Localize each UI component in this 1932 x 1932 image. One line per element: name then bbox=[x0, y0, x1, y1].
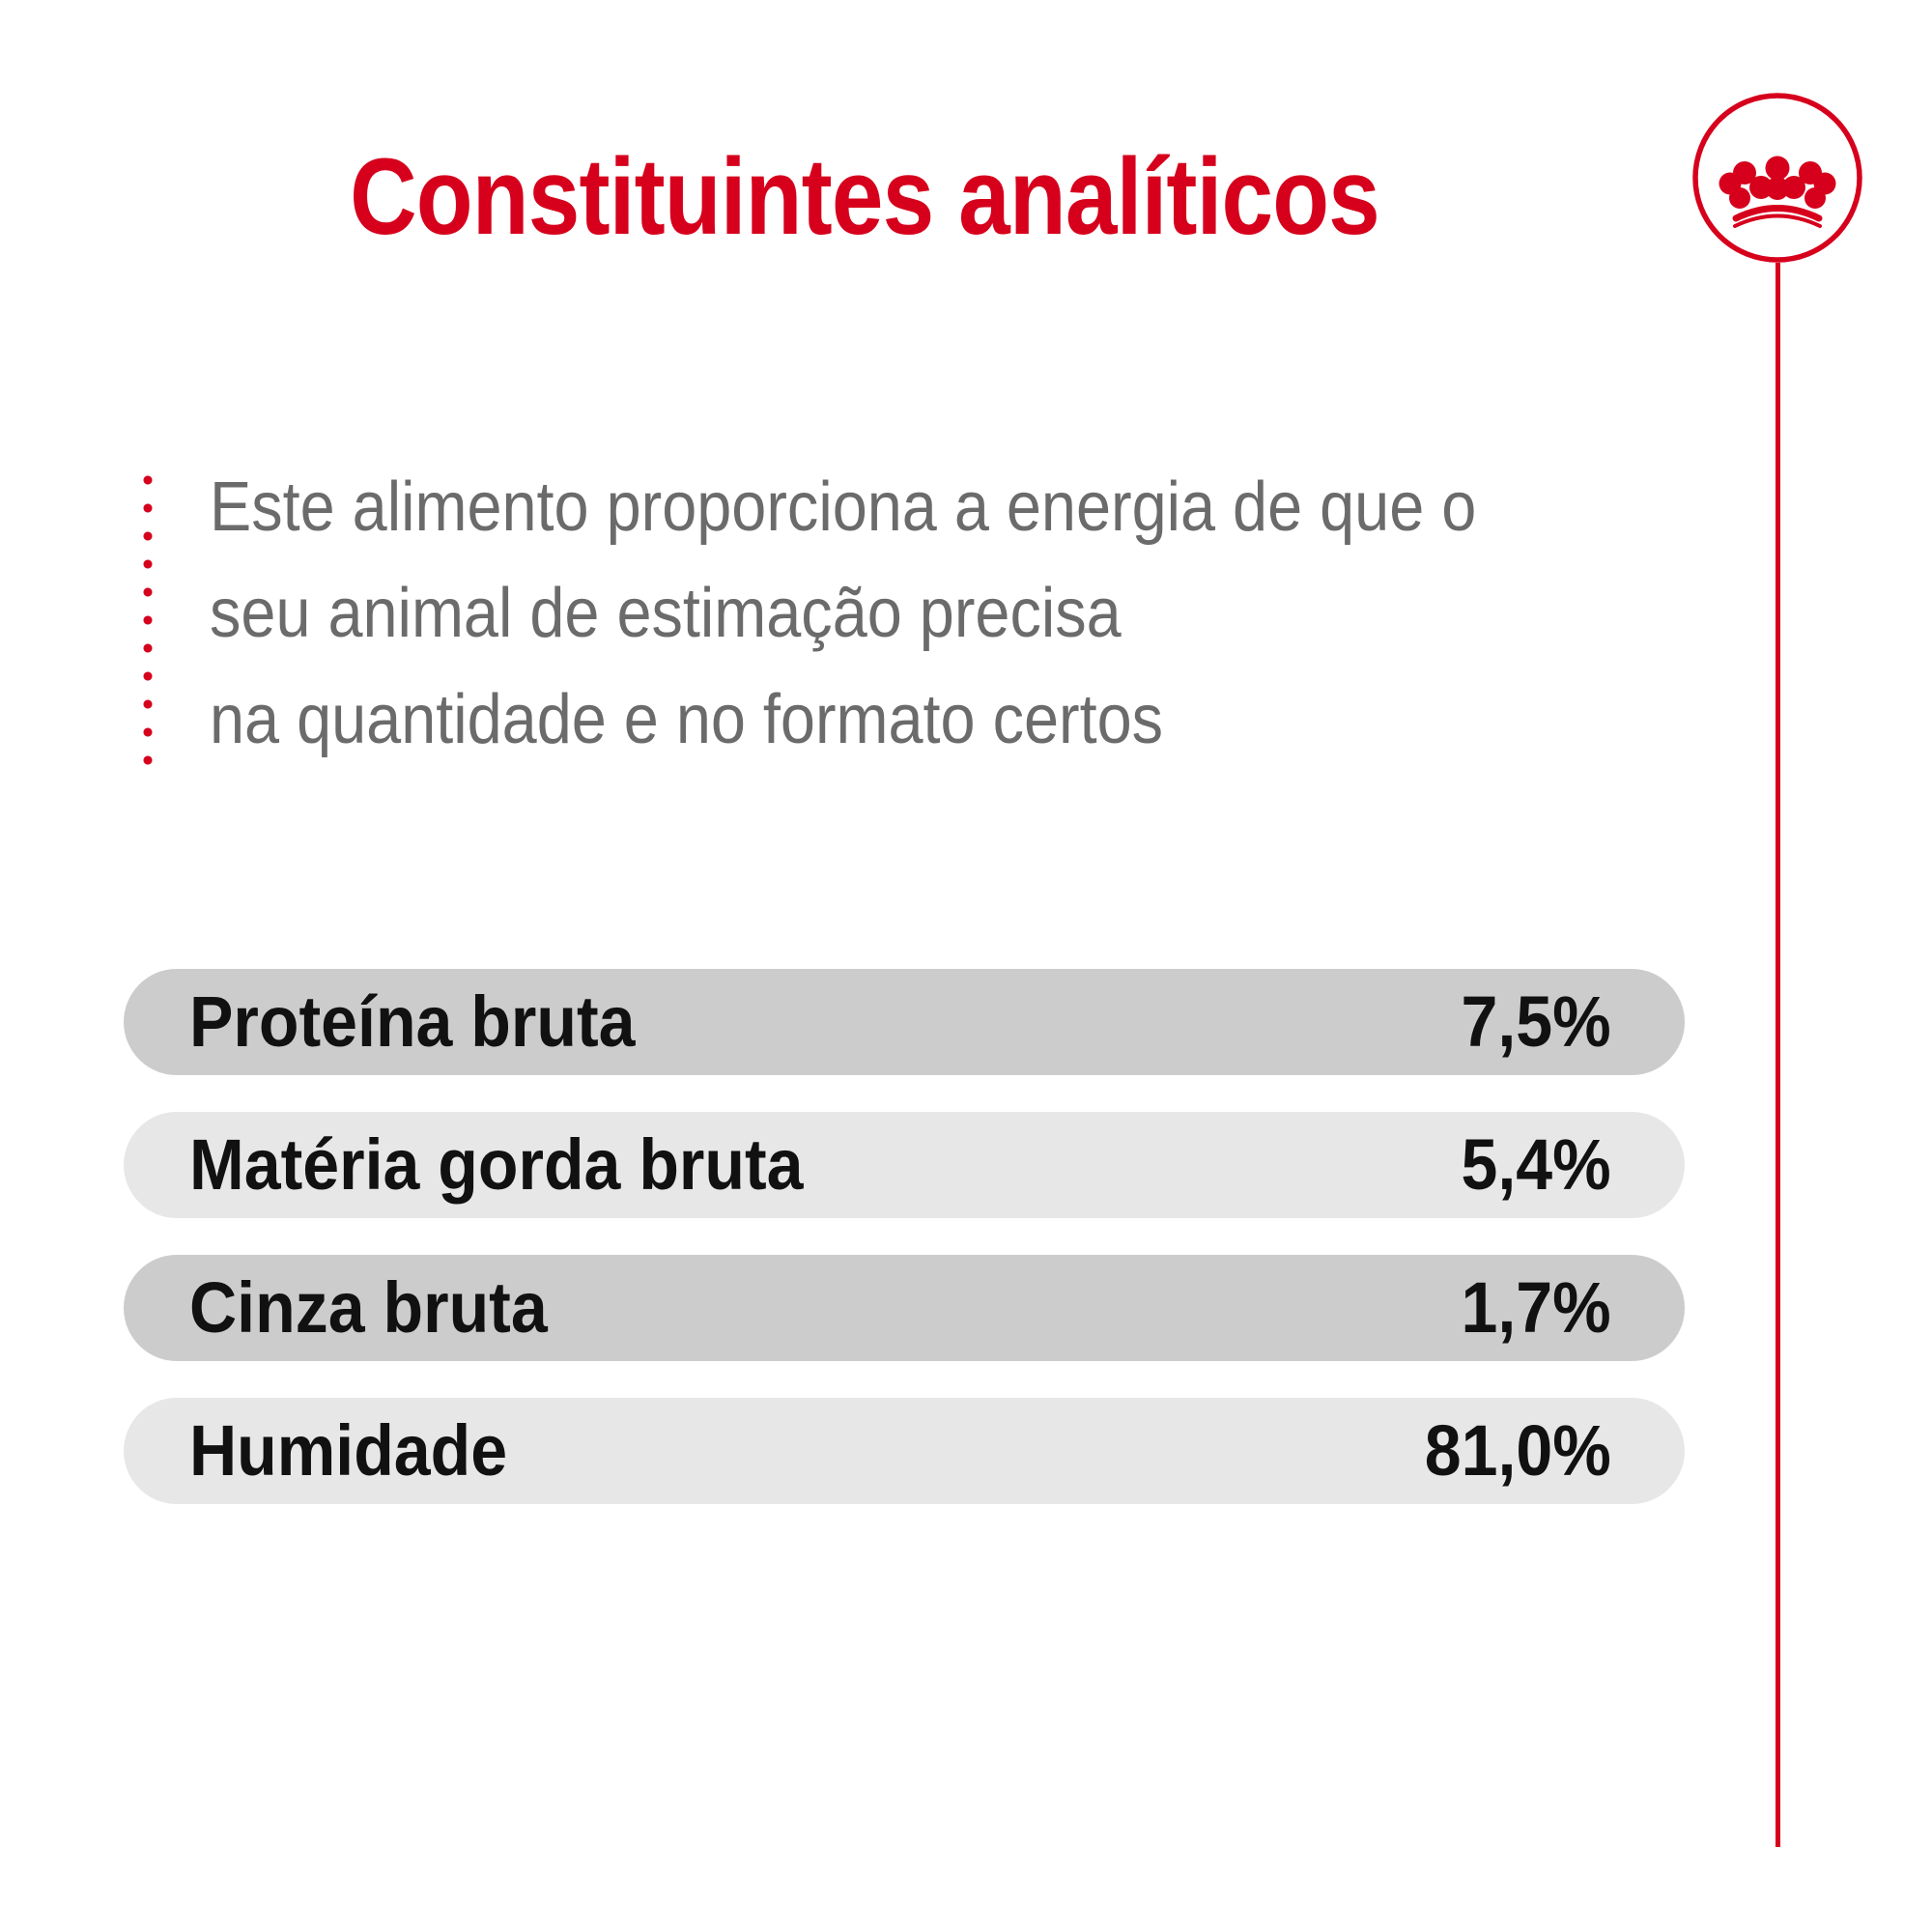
row-label: Matéria gorda bruta bbox=[189, 1129, 804, 1201]
table-row: Humidade 81,0% bbox=[124, 1398, 1685, 1504]
row-value: 5,4% bbox=[1462, 1129, 1611, 1201]
analytical-constituents-table: Proteína bruta 7,5% Matéria gorda bruta … bbox=[124, 969, 1685, 1504]
row-label: Proteína bruta bbox=[189, 986, 636, 1058]
royal-canin-logo bbox=[1690, 90, 1865, 266]
table-row: Cinza bruta 1,7% bbox=[124, 1255, 1685, 1361]
row-label: Cinza bruta bbox=[189, 1272, 548, 1344]
table-row: Matéria gorda bruta 5,4% bbox=[124, 1112, 1685, 1218]
table-row: Proteína bruta 7,5% bbox=[124, 969, 1685, 1075]
row-value: 7,5% bbox=[1462, 986, 1611, 1058]
intro-line-3: na quantidade e no formato certos bbox=[210, 667, 1410, 773]
row-label: Humidade bbox=[189, 1415, 507, 1487]
page-title: Constituintes analíticos bbox=[121, 143, 1607, 251]
row-value: 81,0% bbox=[1425, 1415, 1611, 1487]
intro-line-2: seu animal de estimação precisa bbox=[210, 560, 1410, 667]
intro-paragraph: Este alimento proporciona a energia de q… bbox=[210, 454, 1410, 773]
intro-line-1: Este alimento proporciona a energia de q… bbox=[210, 454, 1410, 560]
intro-block: Este alimento proporciona a energia de q… bbox=[143, 454, 1544, 773]
brand-vertical-rule bbox=[1776, 263, 1780, 1847]
dotted-rule-icon bbox=[143, 475, 153, 770]
row-value: 1,7% bbox=[1462, 1272, 1611, 1344]
